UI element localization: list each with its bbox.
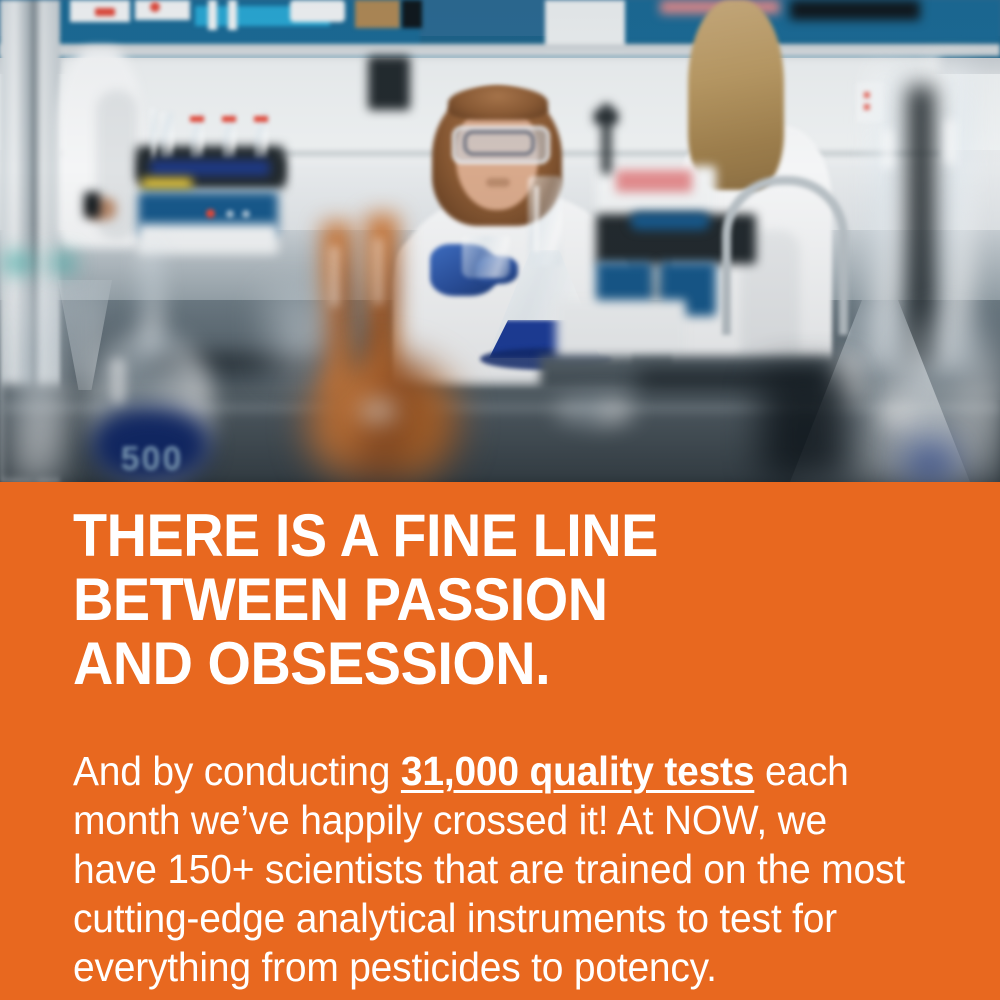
headline-line-3: AND OBSESSION.: [73, 632, 891, 696]
orange-copy-panel: THERE IS A FINE LINE BETWEEN PASSION AND…: [0, 482, 1000, 1000]
quality-tests-emphasis: 31,000 quality tests: [401, 748, 754, 794]
page-title: THERE IS A FINE LINE BETWEEN PASSION AND…: [73, 504, 891, 696]
photo-color-grade: [0, 0, 1000, 482]
headline-line-1: THERE IS A FINE LINE: [73, 504, 891, 568]
headline-line-2: BETWEEN PASSION: [73, 568, 891, 632]
lab-photo: 500: [0, 0, 1000, 482]
marketing-graphic: 500 THERE IS A FINE LINE BETWEEN PASSION…: [0, 0, 1000, 1000]
body-paragraph: And by conducting 31,000 quality tests e…: [73, 747, 909, 992]
body-text-before: And by conducting: [73, 748, 401, 794]
